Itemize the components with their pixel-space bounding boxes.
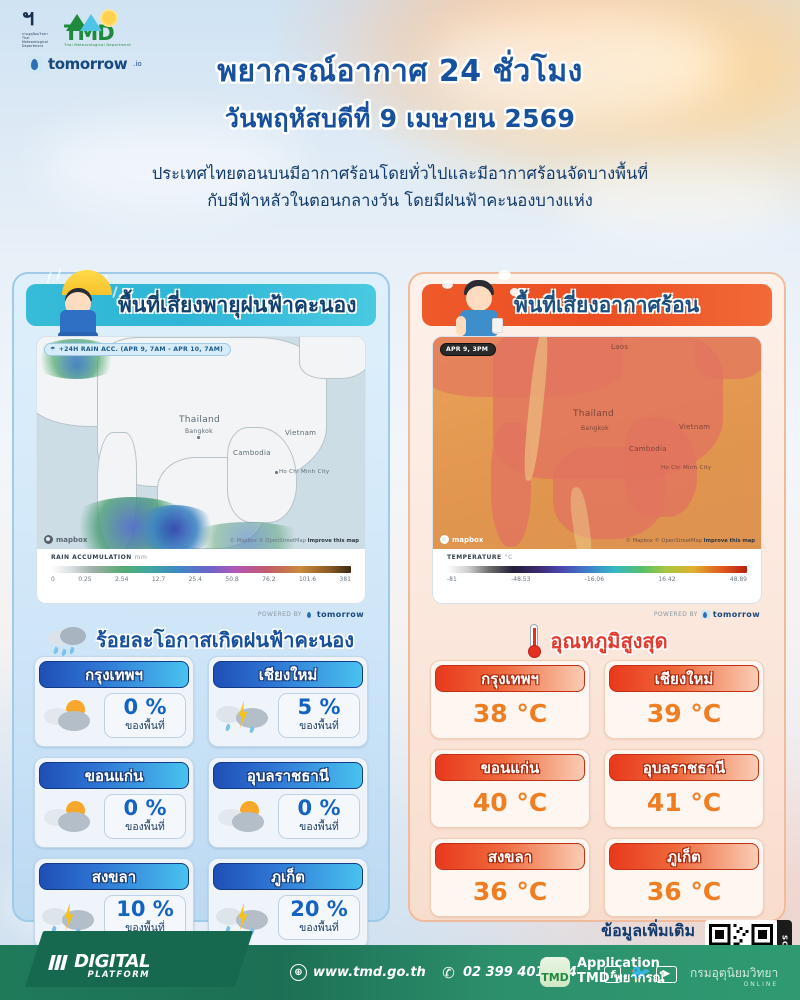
mapbox-logo: mapbox [440,535,483,544]
city-name: เชียงใหม่ [655,667,714,691]
temp-card-header: เชียงใหม่ [609,665,759,692]
city-card-body: 0 % ของพื้นที่ [35,688,193,746]
tomorrow-wordmark: tomorrow [713,610,760,619]
tmd-app-icon-label: TMD [541,971,569,987]
more-info-label: ข้อมูลเพิ่มเติม [601,919,695,944]
tmd-app-text: Application TMD พยากรณ์ [577,957,665,987]
map-label-laos: Laos [611,343,628,351]
temp-card-body: 40 °C [431,781,589,827]
city-card-body: 5 % ของพื้นที่ [209,688,367,746]
temperature-legend-title: TEMPERATURE °C [447,553,747,561]
heat-risk-panel: พื้นที่เสี่ยงอากาศร้อน Laos Thailand Vie… [408,272,786,922]
tick: 12.7 [152,576,165,583]
rain-percent-value: 0 % [281,797,357,819]
city-name: อุบลราชธานี [643,756,725,780]
tick: -16.06 [585,576,604,583]
temperature-value: 36 °C [473,877,547,906]
mapbox-wordmark: mapbox [56,536,87,544]
tick: 76.2 [262,576,275,583]
page-title-block: พยากรณ์อากาศ 24 ชั่วโมง วันพฤหัสบดีที่ 9… [0,48,800,139]
rain-legend-ticks: 0 0.25 2.54 12.7 25.4 50.8 76.2 101.6 38… [51,576,351,583]
tick: -48.53 [511,576,530,583]
map-label-bangkok: Bangkok [581,425,609,432]
city-card-chiangmai[interactable]: เชียงใหม่ 5 % ของพื้นที่ [208,656,368,747]
temperature-city-grid: กรุงเทพฯ 38 °C เชียงใหม่ 39 °C ขอนแก่น [430,660,764,917]
rain-map-card[interactable]: Laos Thailand Vietnam Cambodia Bangkok H… [36,336,366,604]
city-name: กรุงเทพฯ [85,663,143,687]
powered-by-label: POWERED BY [258,611,302,618]
city-name: ขอนแก่น [85,764,144,788]
temp-card-header: อุบลราชธานี [609,754,759,781]
tmd-app-icon: TMD [540,957,570,987]
tmd-mark-icon [64,9,138,31]
rain-percent-box: 0 % ของพื้นที่ [104,693,186,738]
tick: 50.8 [225,576,238,583]
city-name: ขอนแก่น [481,756,540,780]
attribution-text: © Mapbox © OpenStreetMap [626,538,702,544]
rain-legend-title: RAIN ACCUMULATION mm [51,553,351,561]
tick: 0 [51,576,55,583]
legend-title-text: TEMPERATURE [447,554,502,561]
map-label-hcmc: Ho Chi Minh City [279,469,329,475]
forecast-summary: ประเทศไทยตอนบนมีอากาศร้อนโดยทั่วไปและมีอ… [0,160,800,214]
hot-sweating-boy-icon [440,266,526,340]
city-card-header: กรุงเทพฯ [39,661,189,688]
sun-cloud-icon [216,797,274,837]
temp-card-header: สงขลา [435,843,585,870]
rain-colorbar [51,566,351,573]
tick: 48.89 [730,576,747,583]
rain-percent-value: 20 % [281,898,357,920]
rain-map[interactable]: Laos Thailand Vietnam Cambodia Bangkok H… [37,337,365,549]
emblem-subtext: กรมอุตุนิยมวิทยา Thai Meteorological Dep… [22,32,56,48]
app-line-1: Application [577,957,665,972]
city-name: เชียงใหม่ [259,663,318,687]
tick: 381 [340,576,351,583]
temperature-value: 38 °C [473,699,547,728]
temp-card-bangkok[interactable]: กรุงเทพฯ 38 °C [430,660,590,739]
temperature-map-card[interactable]: Laos Thailand Vietnam Cambodia Bangkok H… [432,336,762,604]
map-attribution[interactable]: © Mapbox © OpenStreetMap Improve this ma… [230,538,359,544]
phone-icon: ✆ [440,964,457,981]
temperature-value: 41 °C [647,788,721,817]
temperature-colorbar [447,566,747,573]
city-card-header: อุบลราชธานี [213,762,363,789]
temp-card-body: 38 °C [431,692,589,738]
mapbox-dot-icon [44,535,53,544]
powered-by-label: POWERED BY [654,611,698,618]
city-name: สงขลา [488,845,532,869]
temp-card-body: 39 °C [605,692,763,738]
storm-risk-panel: พื้นที่เสี่ยงพายุฝนฟ้าคะนอง Laos T [12,272,390,922]
city-card-bangkok[interactable]: กรุงเทพฯ 0 % ของพื้นที่ [34,656,194,747]
temperature-value: 40 °C [473,788,547,817]
footer-bar: DIGITAL PLATFORM ⊕ www.tmd.go.th ✆ 02 39… [0,945,800,1000]
rain-percent-unit: ของพื้นที่ [281,919,357,936]
temperature-badge-text: APR 9, 3PM [446,346,488,353]
page-subtitle: วันพฤหัสบดีที่ 9 เมษายน 2569 [0,99,800,139]
tick: 2.54 [115,576,128,583]
city-card-body: 0 % ของพื้นที่ [209,789,367,847]
tick: 25.4 [189,576,202,583]
temp-card-body: 36 °C [605,870,763,916]
city-card-header: ขอนแก่น [39,762,189,789]
emblem-glyph: ฯ [22,8,56,30]
temp-card-header: กรุงเทพฯ [435,665,585,692]
rain-city-grid: กรุงเทพฯ 0 % ของพื้นที่ เชียงใหม [34,656,368,949]
legend-title-text: RAIN ACCUMULATION [51,554,132,561]
website-text: www.tmd.go.th [313,965,426,980]
temp-card-khonkaen[interactable]: ขอนแก่น 40 °C [430,749,590,828]
rain-percent-box: 0 % ของพื้นที่ [278,794,360,839]
digital-platform-logo: DIGITAL PLATFORM [50,951,150,980]
website-link[interactable]: ⊕ www.tmd.go.th [290,964,426,981]
legend-unit: mm [135,554,148,561]
powered-by-tomorrow-left: POWERED BY tomorrow [258,610,364,619]
sun-cloud-icon [42,696,100,736]
rain-percent-unit: ของพื้นที่ [107,717,183,734]
rain-percent-unit: ของพื้นที่ [107,818,183,835]
temperature-legend: TEMPERATURE °C -81 -48.53 -16.06 16.42 4… [433,547,761,603]
globe-icon: ⊕ [290,964,307,981]
city-name: ภูเก็ต [667,845,701,869]
tick: 0.25 [78,576,91,583]
rain-chance-title-text: ร้อยละโอกาสเกิดฝนฟ้าคะนอง [96,624,354,656]
map-label-hcmc: Ho Chi Minh City [661,465,711,471]
rain-percent-box: 20 % ของพื้นที่ [278,895,360,940]
map-label-thailand: Thailand [179,415,220,425]
temp-card-ubon[interactable]: อุบลราชธานี 41 °C [604,749,764,828]
summary-line-1: ประเทศไทยตอนบนมีอากาศร้อนโดยทั่วไปและมีอ… [0,160,800,187]
tmd-app-promo[interactable]: TMD Application TMD พยากรณ์ [540,957,665,987]
improve-map-link[interactable]: Improve this map [308,538,359,544]
temp-card-header: ขอนแก่น [435,754,585,781]
weather-infographic: ฯ กรมอุตุนิยมวิทยา Thai Meteorological D… [0,0,800,1000]
rain-legend: RAIN ACCUMULATION mm 0 0.25 2.54 12.7 25… [37,547,365,603]
rain-boy-umbrella-icon [44,266,130,340]
city-card-header: เชียงใหม่ [213,661,363,688]
city-card-ubon[interactable]: อุบลราชธานี 0 % ของพื้นที่ [208,757,368,848]
tomorrow-mark-icon [701,610,710,619]
rain-cloud-icon [48,626,88,654]
tmd-online-label: กรมอุตุนิยมวิทยา ONLINE [690,964,778,988]
rain-percent-value: 0 % [107,797,183,819]
temp-card-header: ภูเก็ต [609,843,759,870]
city-name: กรุงเทพฯ [481,667,539,691]
temperature-value: 36 °C [647,877,721,906]
powered-by-tomorrow-right: POWERED BY tomorrow [654,610,760,619]
max-temp-section-title: อุณหภูมิสูงสุด [410,624,784,658]
rain-chance-section-title: ร้อยละโอกาสเกิดฝนฟ้าคะนอง [14,624,388,656]
map-label-cambodia: Cambodia [233,449,271,457]
heat-panel-header: พื้นที่เสี่ยงอากาศร้อน [422,284,772,326]
mapbox-logo: mapbox [44,535,87,544]
tomorrow-wordmark: tomorrow [317,610,364,619]
thunderstorm-icon [216,696,274,736]
city-card-body: 0 % ของพื้นที่ [35,789,193,847]
map-label-bangkok: Bangkok [185,428,213,435]
rain-badge-text: +24H RAIN ACC. (APR 9, 7AM - APR 10, 7AM… [59,346,223,353]
temp-card-body: 36 °C [431,870,589,916]
mapbox-wordmark: mapbox [452,536,483,544]
rain-percent-unit: ของพื้นที่ [281,717,357,734]
improve-map-link[interactable]: Improve this map [704,538,755,544]
royal-emblem-icon: ฯ กรมอุตุนิยมวิทยา Thai Meteorological D… [22,8,56,48]
city-card-header: ภูเก็ต [213,863,363,890]
temperature-map[interactable]: Laos Thailand Vietnam Cambodia Bangkok H… [433,337,761,549]
sun-cloud-icon [42,797,100,837]
temp-card-songkhla[interactable]: สงขลา 36 °C [430,838,590,917]
map-label-vietnam: Vietnam [679,423,710,431]
tick: -81 [447,576,457,583]
temp-card-phuket[interactable]: ภูเก็ต 36 °C [604,838,764,917]
legend-unit: °C [505,554,513,561]
rain-percent-value: 10 % [107,898,183,920]
city-card-khonkaen[interactable]: ขอนแก่น 0 % ของพื้นที่ [34,757,194,848]
tmd-logo: TMD Thai Meteorological Department [64,9,138,48]
digital-bars-icon [50,955,66,970]
temp-card-chiangmai[interactable]: เชียงใหม่ 39 °C [604,660,764,739]
thermometer-icon [526,624,542,658]
rain-percent-box: 5 % ของพื้นที่ [278,693,360,738]
digital-wordmark: DIGITAL [74,951,150,972]
map-label-vietnam: Vietnam [285,429,316,437]
map-attribution[interactable]: © Mapbox © OpenStreetMap Improve this ma… [626,538,755,544]
city-name: อุบลราชธานี [247,764,329,788]
summary-line-2: กับมีฟ้าหลัวในตอนกลางวัน โดยมีฝนฟ้าคะนอง… [0,187,800,214]
attribution-text: © Mapbox © OpenStreetMap [230,538,306,544]
temp-card-body: 41 °C [605,781,763,827]
city-card-header: สงขลา [39,863,189,890]
rain-percent-box: 0 % ของพื้นที่ [104,794,186,839]
tick: 16.42 [658,576,675,583]
rain-map-badge: ☂ +24H RAIN ACC. (APR 9, 7AM - APR 10, 7… [44,343,231,356]
rain-percent-value: 0 % [107,696,183,718]
max-temp-title-text: อุณหภูมิสูงสุด [550,625,667,657]
temperature-legend-ticks: -81 -48.53 -16.06 16.42 48.89 [447,576,747,583]
tmd-tagline: Thai Meteorological Department [64,43,138,47]
city-name: ภูเก็ต [271,865,305,889]
page-title: พยากรณ์อากาศ 24 ชั่วโมง [0,48,800,95]
rain-percent-value: 5 % [281,696,357,718]
app-line-2: TMD พยากรณ์ [577,972,665,987]
temperature-map-badge: APR 9, 3PM [440,343,496,356]
tomorrow-mark-icon [305,610,314,619]
map-label-cambodia: Cambodia [629,445,667,453]
mapbox-dot-icon [440,535,449,544]
tick: 101.6 [299,576,316,583]
rain-percent-unit: ของพื้นที่ [281,818,357,835]
city-name: สงขลา [92,865,136,889]
map-label-thailand: Thailand [573,409,614,419]
temperature-value: 39 °C [647,699,721,728]
storm-panel-header: พื้นที่เสี่ยงพายุฝนฟ้าคะนอง [26,284,376,326]
rain-badge-icon: ☂ [50,346,56,353]
